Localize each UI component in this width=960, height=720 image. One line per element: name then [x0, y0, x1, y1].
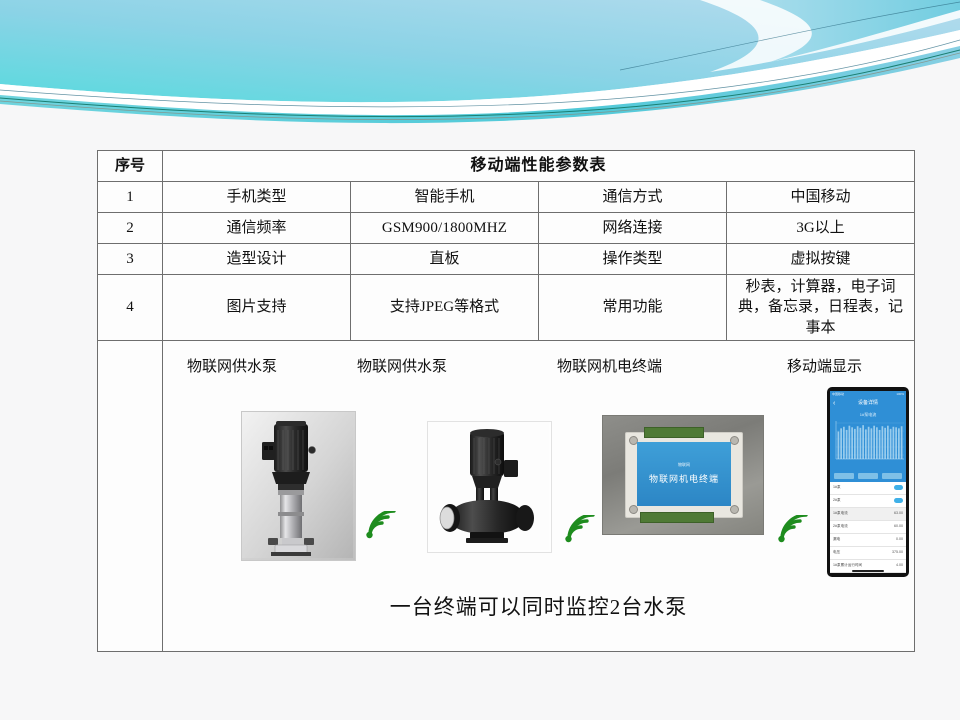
row-value-b: 中国移动 [727, 182, 915, 213]
list-item-value: 60.00 [894, 524, 903, 529]
system-diagram: 物联网供水泵 物联网供水泵 物联网机电终端 移动端显示 [167, 343, 910, 649]
row-value-a: 直板 [351, 244, 539, 275]
current-bar-chart [830, 417, 906, 465]
phone-chart-title: 1#泵电流 [830, 410, 906, 417]
row-param-b: 常用功能 [539, 275, 727, 341]
pump-2-image [427, 421, 552, 553]
terminal-brand: 物联网 [678, 462, 690, 467]
home-indicator [852, 570, 884, 572]
row-value-b: 虚拟按键 [727, 244, 915, 275]
row-index: 4 [98, 275, 163, 341]
list-item-key: 2#泵 [833, 498, 841, 503]
list-item[interactable]: 1#泵 [830, 482, 906, 495]
wifi-arcs-graphic [363, 511, 397, 541]
row-value-b: 3G以上 [727, 213, 915, 244]
list-item-value: 0.00 [896, 537, 903, 542]
terminal-connector-bottom [640, 512, 714, 523]
slide-header-decoration [0, 0, 960, 125]
wifi-signal-icon [775, 515, 809, 545]
row-param-a: 造型设计 [163, 244, 351, 275]
list-item-key: 漏电 [833, 537, 840, 542]
phone-nav-title: 设备详情 [858, 400, 878, 407]
chevron-left-icon[interactable]: ‹ [833, 400, 835, 408]
table-row: 1 手机类型 智能手机 通信方式 中国移动 [98, 182, 915, 213]
row-index: 1 [98, 182, 163, 213]
toggle-switch[interactable] [894, 498, 903, 503]
terminal-enclosure: 物联网 物联网机电终端 [625, 432, 743, 518]
screw-icon [730, 505, 739, 514]
inline-pump-graphic [428, 422, 549, 550]
mobile-spec-table: 序号 移动端性能参数表 1 手机类型 智能手机 通信方式 中国移动 2 通信频率… [97, 150, 915, 652]
list-item-value: 375.00 [892, 550, 903, 555]
status-battery: 100% [896, 391, 904, 398]
diagram-row-index-cell [98, 340, 163, 651]
wave-banner-graphic [0, 0, 960, 125]
wifi-arcs-graphic [775, 515, 809, 545]
phone-nav-bar: ‹ 设备详情 [830, 398, 906, 410]
list-item: 2#泵电流 60.00 [830, 521, 906, 534]
range-button-year[interactable] [882, 473, 902, 479]
diagram-row: 物联网供水泵 物联网供水泵 物联网机电终端 移动端显示 [98, 340, 915, 651]
row-param-b: 网络连接 [539, 213, 727, 244]
range-button-today[interactable] [834, 473, 854, 479]
row-value-a: GSM900/1800MHZ [351, 213, 539, 244]
row-param-b: 操作类型 [539, 244, 727, 275]
row-param-a: 手机类型 [163, 182, 351, 213]
list-item-key: 1#泵累计运行时间 [833, 563, 862, 568]
range-button-week-month[interactable] [858, 473, 878, 479]
wifi-signal-icon [562, 515, 596, 545]
phone-device-image: 中国移动 100% ‹ 设备详情 1#泵电流 [827, 387, 909, 577]
table-header-row: 序号 移动端性能参数表 [98, 151, 915, 182]
spec-table-wrapper: 序号 移动端性能参数表 1 手机类型 智能手机 通信方式 中国移动 2 通信频率… [97, 150, 915, 652]
terminal-plate-text: 物联网机电终端 [649, 473, 719, 485]
list-item-key: 1#泵电流 [833, 511, 848, 516]
list-item-key: 电压 [833, 550, 840, 555]
list-item-key: 2#泵电流 [833, 524, 848, 529]
list-item-value: 4.00 [896, 563, 903, 568]
row-value-a: 智能手机 [351, 182, 539, 213]
toggle-switch[interactable] [894, 485, 903, 490]
row-value-a: 支持JPEG等格式 [351, 275, 539, 341]
list-item: 电压 375.00 [830, 547, 906, 560]
list-item: 漏电 0.00 [830, 534, 906, 547]
row-param-a: 图片支持 [163, 275, 351, 341]
row-index: 2 [98, 213, 163, 244]
phone-screen: 中国移动 100% ‹ 设备详情 1#泵电流 [830, 391, 906, 573]
terminal-device-image: 物联网 物联网机电终端 [602, 415, 764, 535]
table-row: 4 图片支持 支持JPEG等格式 常用功能 秒表，计算器，电子词典，备忘录，日程… [98, 275, 915, 341]
table-row: 3 造型设计 直板 操作类型 虚拟按键 [98, 244, 915, 275]
screw-icon [629, 505, 638, 514]
table-row: 2 通信频率 GSM900/1800MHZ 网络连接 3G以上 [98, 213, 915, 244]
terminal-connector-top [644, 427, 704, 438]
diagram-cell: 物联网供水泵 物联网供水泵 物联网机电终端 移动端显示 [163, 340, 915, 651]
phone-chart-panel: 1#泵电流 [830, 410, 906, 482]
column-header-index: 序号 [98, 151, 163, 182]
wifi-signal-icon [363, 511, 397, 541]
list-item-value: 63.00 [894, 511, 903, 516]
row-value-b: 秒表，计算器，电子词典，备忘录，日程表，记事本 [727, 275, 915, 341]
chart-bars [838, 425, 903, 459]
diagram-caption: 一台终端可以同时监控2台水泵 [167, 593, 910, 621]
table-title: 移动端性能参数表 [163, 151, 915, 182]
list-item-key: 1#泵 [833, 485, 841, 490]
label-phone: 移动端显示 [787, 357, 862, 377]
label-pump-2: 物联网供水泵 [357, 357, 447, 377]
list-item: 1#泵电流 63.00 [830, 508, 906, 521]
row-index: 3 [98, 244, 163, 275]
phone-chart-range-buttons[interactable] [834, 473, 902, 479]
pump-1-image [241, 411, 356, 561]
status-carrier: 中国移动 [832, 391, 844, 398]
wifi-arcs-graphic [562, 515, 596, 545]
phone-status-bar: 中国移动 100% [830, 391, 906, 398]
list-item[interactable]: 2#泵 [830, 495, 906, 508]
label-pump-1: 物联网供水泵 [187, 357, 277, 377]
screw-icon [730, 436, 739, 445]
row-param-b: 通信方式 [539, 182, 727, 213]
label-terminal: 物联网机电终端 [557, 357, 662, 377]
terminal-label-plate: 物联网 物联网机电终端 [637, 442, 731, 506]
row-param-a: 通信频率 [163, 213, 351, 244]
vertical-pump-graphic [242, 412, 353, 558]
